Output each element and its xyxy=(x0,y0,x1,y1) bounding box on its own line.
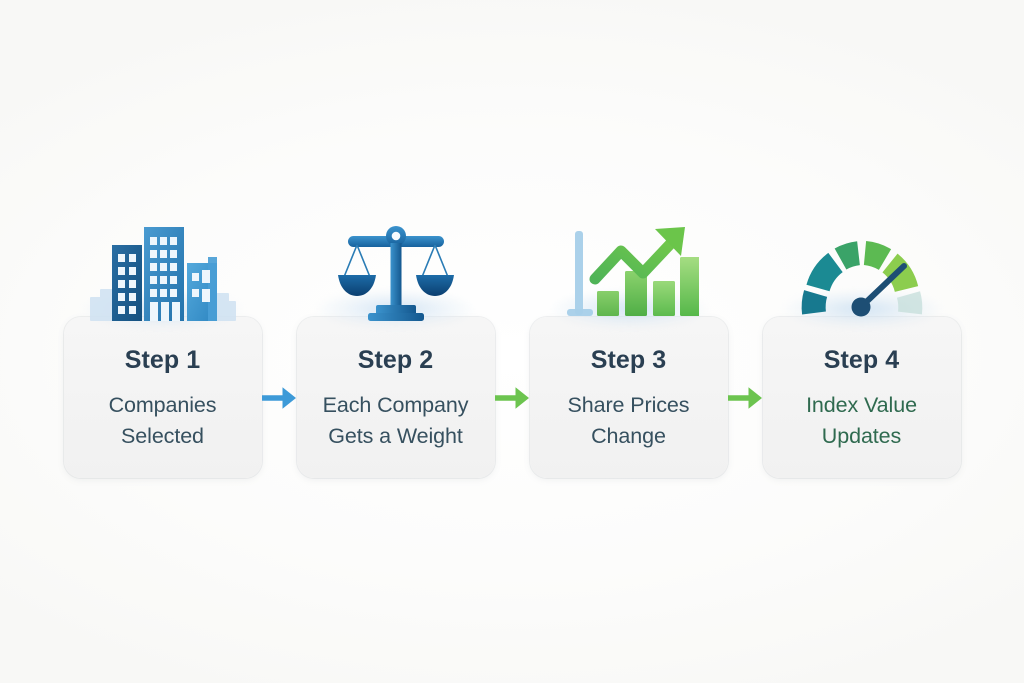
arrow-step3-to-step4 xyxy=(728,317,763,478)
arrow-right-icon xyxy=(728,385,763,411)
process-flow-diagram: Step 1 CompaniesSelected xyxy=(0,0,1024,683)
arrow-right-icon xyxy=(495,385,530,411)
step-2-card[interactable]: Step 2 Each CompanyGets a Weight xyxy=(297,317,495,478)
gauge-meter-icon xyxy=(795,227,929,323)
step-2-icon-area xyxy=(297,211,495,323)
step-4-title: Step 4 xyxy=(824,348,900,373)
step-4-card[interactable]: Step 4 Index ValueUpdates xyxy=(763,317,961,478)
step-3-card[interactable]: Step 3 Share PricesChange xyxy=(530,317,728,478)
balance-scale-icon xyxy=(332,223,460,323)
step-card-3[interactable]: Step 3 Share PricesChange xyxy=(530,211,728,478)
step-3-title: Step 3 xyxy=(591,348,667,373)
step-card-2[interactable]: Step 2 Each CompanyGets a Weight xyxy=(297,211,495,478)
step-3-icon-area xyxy=(530,211,728,323)
step-1-title: Step 1 xyxy=(125,348,201,373)
step-1-description: CompaniesSelected xyxy=(109,390,217,453)
step-1-icon-area xyxy=(64,211,262,323)
step-4-description: Index ValueUpdates xyxy=(806,390,917,453)
flow-track: Step 1 CompaniesSelected xyxy=(64,211,961,478)
step-3-description: Share PricesChange xyxy=(568,390,690,453)
step-2-description: Each CompanyGets a Weight xyxy=(323,390,469,453)
step-card-1[interactable]: Step 1 CompaniesSelected xyxy=(64,211,262,478)
step-1-card[interactable]: Step 1 CompaniesSelected xyxy=(64,317,262,478)
arrow-step2-to-step3 xyxy=(495,317,530,478)
arrow-right-icon xyxy=(262,385,297,411)
step-card-4[interactable]: Step 4 Index ValueUpdates xyxy=(763,211,961,478)
step-4-icon-area xyxy=(763,211,961,323)
bar-chart-up-icon xyxy=(559,223,699,323)
step-2-title: Step 2 xyxy=(358,348,434,373)
arrow-step1-to-step2 xyxy=(262,317,297,478)
office-buildings-icon xyxy=(88,219,238,323)
